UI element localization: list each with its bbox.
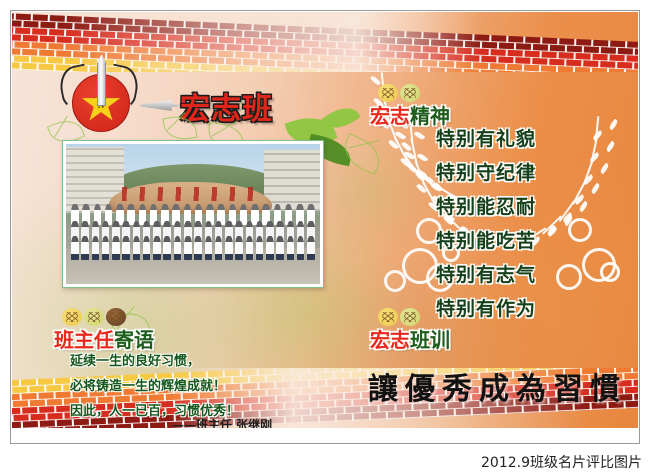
photo-person bbox=[276, 236, 284, 260]
photo-person bbox=[102, 236, 110, 260]
photo-person bbox=[246, 236, 254, 260]
spirit-item: 特别能忍耐 bbox=[436, 192, 536, 219]
vine-leaf bbox=[414, 130, 426, 141]
photo-person bbox=[256, 236, 264, 260]
photo-person bbox=[184, 236, 192, 260]
class-motto: 讓優秀成為習慣 bbox=[368, 364, 627, 408]
poster-canvas: N 高一(1)班 宏志班 bbox=[12, 12, 638, 428]
motto-heading-green: 班训 bbox=[410, 328, 450, 352]
spirit-heading-red: 宏志 bbox=[370, 104, 410, 128]
photo-person bbox=[112, 236, 120, 260]
vine-leaf bbox=[590, 183, 601, 195]
message-section-header: 班主任寄语 bbox=[54, 324, 154, 353]
teacher-signature: ——班主任 张继刚 bbox=[172, 416, 272, 428]
photo-person bbox=[215, 236, 223, 260]
spirit-item: 特别有礼貌 bbox=[436, 124, 536, 151]
photo-person bbox=[81, 236, 89, 260]
image-caption: 2012.9班级名片评比图片 bbox=[481, 452, 642, 472]
spirit-list: 特别有礼貌 特别守纪律 特别能忍耐 特别能吃苦 特别有志气 特别有作为 bbox=[436, 124, 536, 328]
vine-leaf bbox=[605, 141, 616, 153]
poster-title: 宏志班 bbox=[180, 84, 273, 128]
ring-decoration bbox=[568, 218, 592, 242]
photo-person bbox=[235, 236, 243, 260]
photo-person bbox=[194, 236, 202, 260]
photo-person bbox=[266, 236, 274, 260]
motto-heading-red: 宏志 bbox=[370, 328, 410, 352]
motto-section-header: 宏志班训 bbox=[370, 324, 450, 353]
vine-leaf bbox=[417, 152, 429, 163]
photo-person bbox=[92, 236, 100, 260]
vine-leaf bbox=[599, 163, 610, 175]
photo-person bbox=[307, 236, 315, 260]
photo-person bbox=[153, 236, 161, 260]
spirit-item: 特别有作为 bbox=[436, 294, 536, 321]
photo-person bbox=[174, 236, 182, 260]
photo-person bbox=[143, 236, 151, 260]
ring-decoration bbox=[600, 262, 620, 282]
ring-decoration bbox=[384, 270, 406, 292]
spirit-item: 特别有志气 bbox=[436, 260, 536, 287]
title-arrow-icon bbox=[140, 100, 184, 111]
message-heading-red: 班主任 bbox=[54, 328, 114, 352]
photo-person bbox=[163, 236, 171, 260]
ring-decoration bbox=[556, 264, 582, 290]
screenshot-root: N 高一(1)班 宏志班 bbox=[0, 0, 650, 474]
teacher-message-lines: 延续一生的良好习惯， 必将铸造一生的辉煌成就！ 因此，人一已百，习惯优秀！ bbox=[70, 350, 239, 425]
badge-blade-icon bbox=[97, 54, 106, 106]
photo-person bbox=[133, 236, 141, 260]
message-heading-green: 寄语 bbox=[114, 328, 154, 352]
message-line: 必将铸造一生的辉煌成就！ bbox=[70, 375, 239, 394]
spirit-item: 特别守纪律 bbox=[436, 158, 536, 185]
photo-person bbox=[205, 236, 213, 260]
photo-person bbox=[122, 236, 130, 260]
message-line: 延续一生的良好习惯， bbox=[70, 350, 239, 369]
photo-person bbox=[225, 236, 233, 260]
class-group-photo bbox=[62, 140, 324, 288]
photo-person bbox=[297, 236, 305, 260]
spirit-item: 特别能吃苦 bbox=[436, 226, 536, 253]
vine-leaf bbox=[608, 119, 619, 131]
photo-person bbox=[71, 236, 79, 260]
photo-person bbox=[287, 236, 295, 260]
